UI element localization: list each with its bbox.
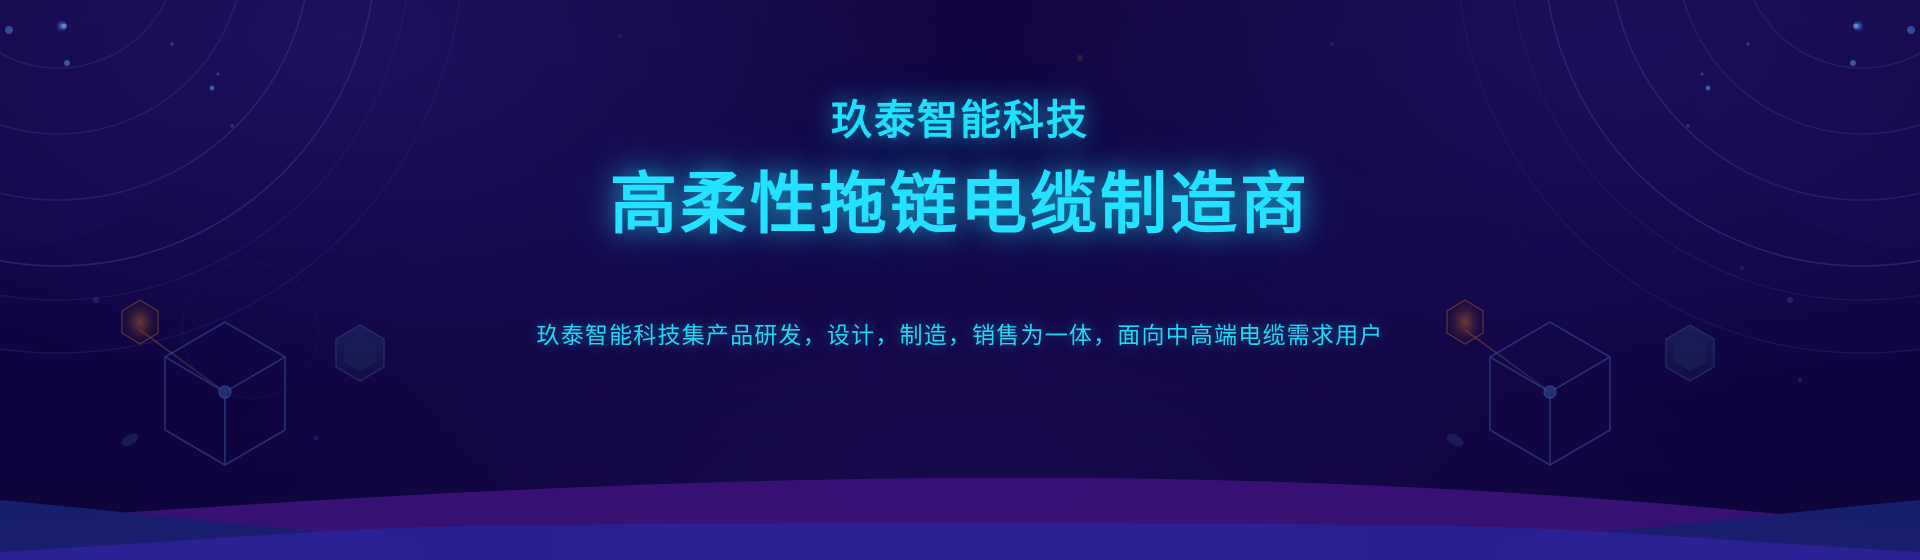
hero-subtitle: 玖泰智能科技集产品研发，设计，制造，销售为一体，面向中高端电缆需求用户 [537, 320, 1384, 351]
page-title: 高柔性拖链电缆制造商 [610, 168, 1310, 242]
hero-content: 玖泰智能科技 高柔性拖链电缆制造商 玖泰智能科技集产品研发，设计，制造，销售为一… [0, 0, 1920, 560]
hero-banner: 玖泰智能科技 高柔性拖链电缆制造商 玖泰智能科技集产品研发，设计，制造，销售为一… [0, 0, 1920, 560]
brand-name: 玖泰智能科技 [831, 98, 1089, 144]
